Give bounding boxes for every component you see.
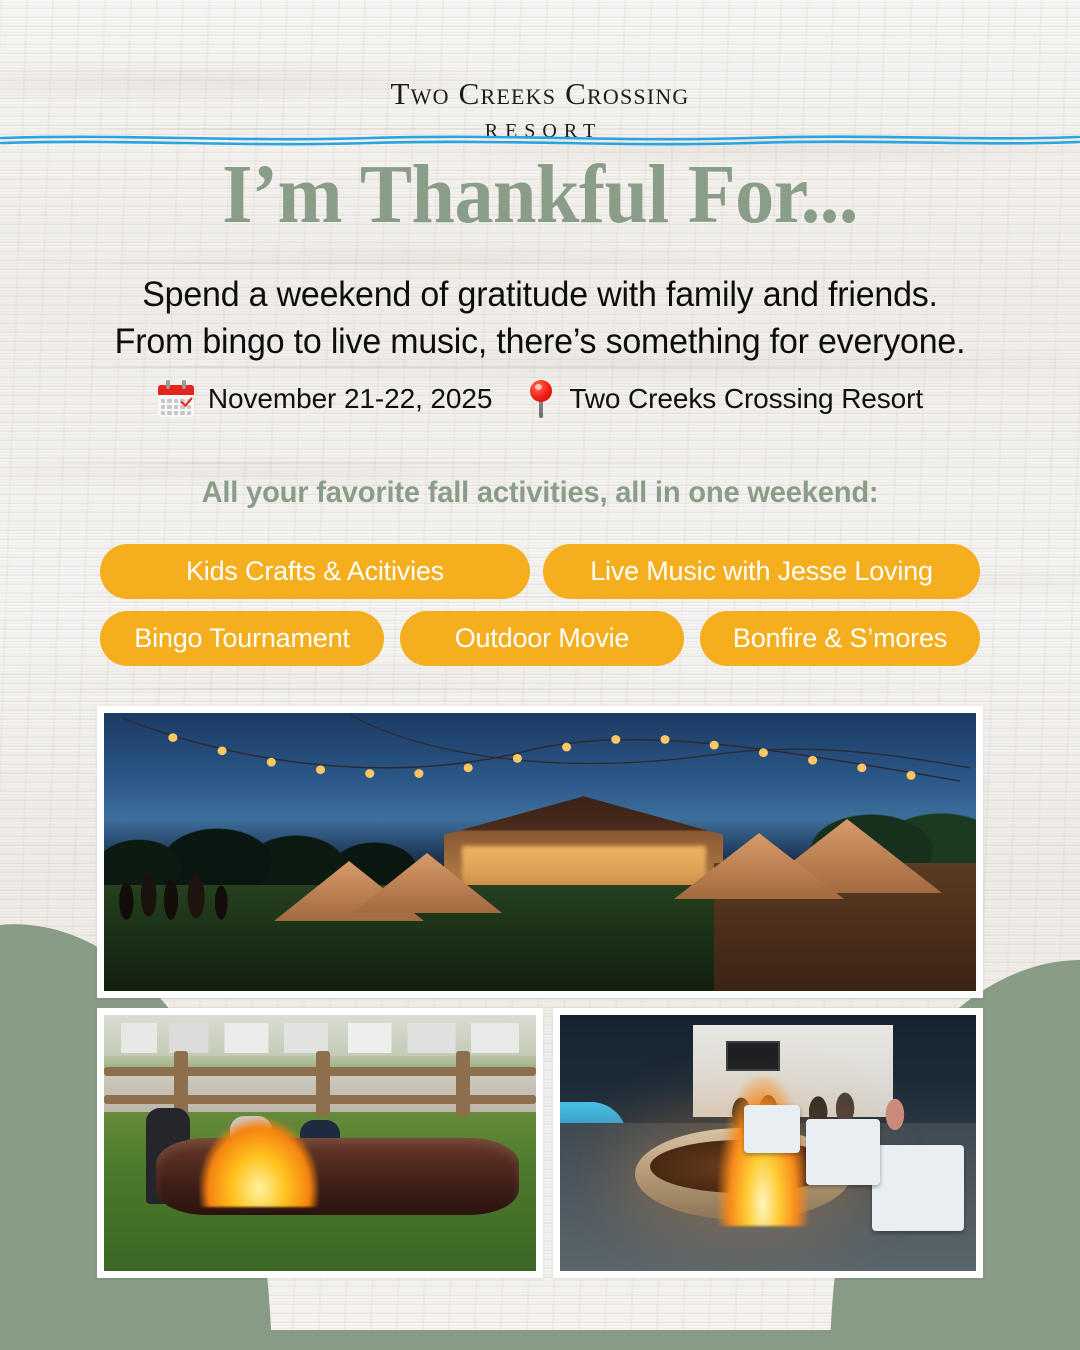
event-meta: November 21-22, 2025 Two Creeks Crossing…	[0, 378, 1080, 420]
adirondack-chair	[872, 1145, 964, 1231]
activity-pill-live-music[interactable]: Live Music with Jesse Loving	[543, 544, 980, 599]
map-pin-icon	[526, 378, 556, 420]
adirondack-chair	[806, 1119, 880, 1185]
subtitle-line-1: Spend a weekend of gratitude with family…	[16, 272, 1064, 319]
brand-name: Two Creeks Crossing	[384, 78, 695, 109]
outdoor-venue-night-photo	[97, 706, 983, 998]
resort-sign	[726, 1041, 780, 1072]
plank-seam	[0, 688, 1080, 690]
adirondack-chair	[744, 1105, 800, 1153]
brand-subname: RESORT	[0, 120, 1080, 143]
activity-pill-bingo-tournament[interactable]: Bingo Tournament	[100, 611, 384, 666]
venue-scene-art	[104, 713, 976, 991]
smores-scene-art	[104, 1015, 536, 1271]
bonfire-scene-art	[560, 1015, 976, 1271]
subtitle: Spend a weekend of gratitude with family…	[16, 272, 1064, 365]
guest-crowd	[104, 858, 383, 930]
activity-pill-kids-crafts[interactable]: Kids Crafts & Acitivies	[100, 544, 530, 599]
calendar-icon	[157, 380, 195, 418]
rv-row	[121, 1023, 518, 1054]
event-location: Two Creeks Crossing Resort	[526, 378, 923, 420]
brand-logo: Two Creeks Crossing RESORT	[0, 78, 1080, 143]
page-title: I’m Thankful For...	[38, 150, 1042, 239]
plank-seam	[0, 462, 1080, 464]
event-date-text: November 21-22, 2025	[208, 383, 492, 415]
bonfire-firepit-night-photo	[553, 1008, 983, 1278]
rail-fence	[104, 1051, 536, 1112]
activity-pill-bonfire-smores[interactable]: Bonfire & S’mores	[700, 611, 980, 666]
plank-seam	[0, 262, 1080, 264]
activities-row-1: Kids Crafts & Acitivies Live Music with …	[100, 544, 980, 599]
kids-smores-firepit-photo	[97, 1008, 543, 1278]
event-location-text: Two Creeks Crossing Resort	[569, 383, 923, 415]
subtitle-line-2: From bingo to live music, there’s someth…	[16, 319, 1064, 366]
activity-pill-outdoor-movie[interactable]: Outdoor Movie	[400, 611, 684, 666]
activities-row-2: Bingo Tournament Outdoor Movie Bonfire &…	[100, 611, 980, 666]
fire-flames	[199, 1117, 319, 1207]
poster-canvas: Two Creeks Crossing RESORT I’m Thankful …	[0, 0, 1080, 1350]
event-date: November 21-22, 2025	[157, 380, 492, 418]
string-lights	[104, 713, 976, 808]
plank-seam	[0, 366, 1080, 368]
activities-list: Kids Crafts & Acitivies Live Music with …	[100, 544, 980, 678]
activities-heading: All your favorite fall activities, all i…	[16, 476, 1064, 510]
